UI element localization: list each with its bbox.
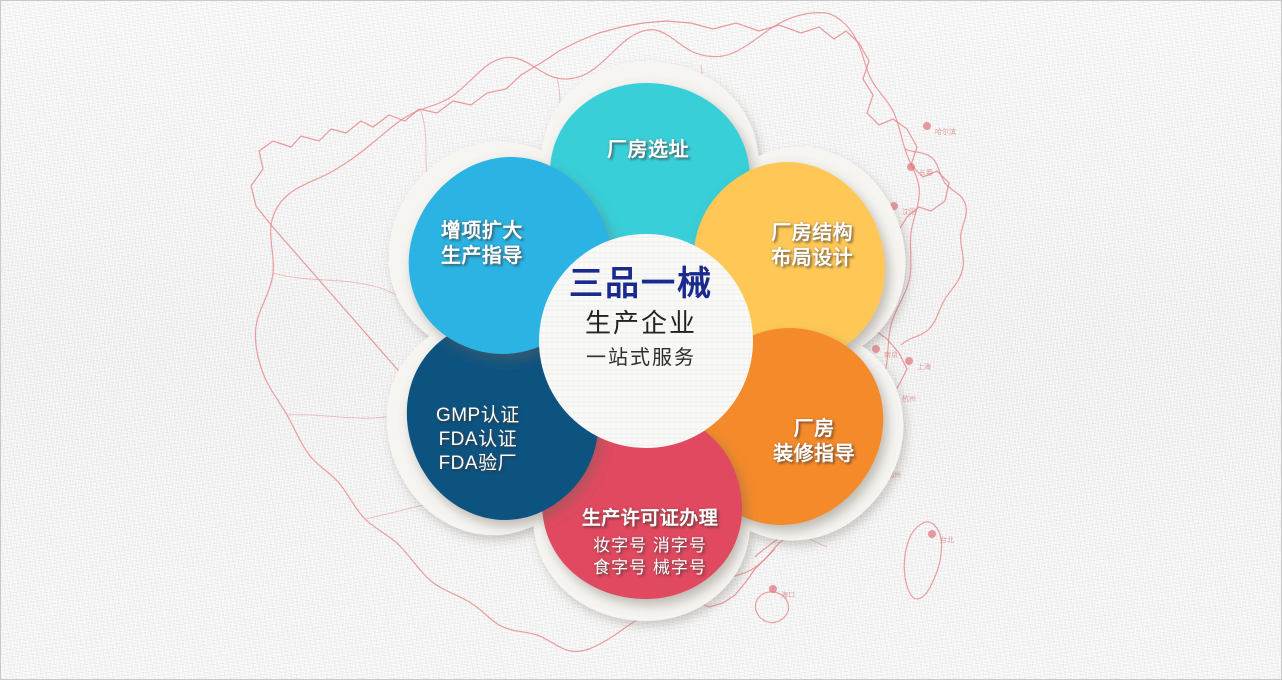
infographic-canvas: 哈尔滨 长春 沈阳 北京 济南 郑州 南京 上海 武汉 杭州 福州 广州 台北 … [0,0,1282,680]
petal-expansion-guidance-label: 增项扩大 生产指导 [387,219,577,270]
six-petal-wheel: 厂房选址厂房结构 布局设计厂房 装修指导生产许可证办理妆字号 消字号 食字号 械… [346,41,946,641]
petal-factory-site-label: 厂房选址 [553,138,743,164]
petal-structure-layout-label: 厂房结构 布局设计 [717,221,907,272]
petal-production-license-label-main: 生产许可证办理 [555,507,745,531]
petal-labels: 厂房选址厂房结构 布局设计厂房 装修指导生产许可证办理妆字号 消字号 食字号 械… [346,41,946,641]
petal-decoration-guidance-label: 厂房 装修指导 [719,417,909,468]
petal-production-license-label-sub: 妆字号 消字号 食字号 械字号 [555,535,745,579]
petal-production-license-label: 生产许可证办理妆字号 消字号 食字号 械字号 [555,507,745,579]
petal-certification-label: GMP认证 FDA认证 FDA验厂 [383,404,573,477]
